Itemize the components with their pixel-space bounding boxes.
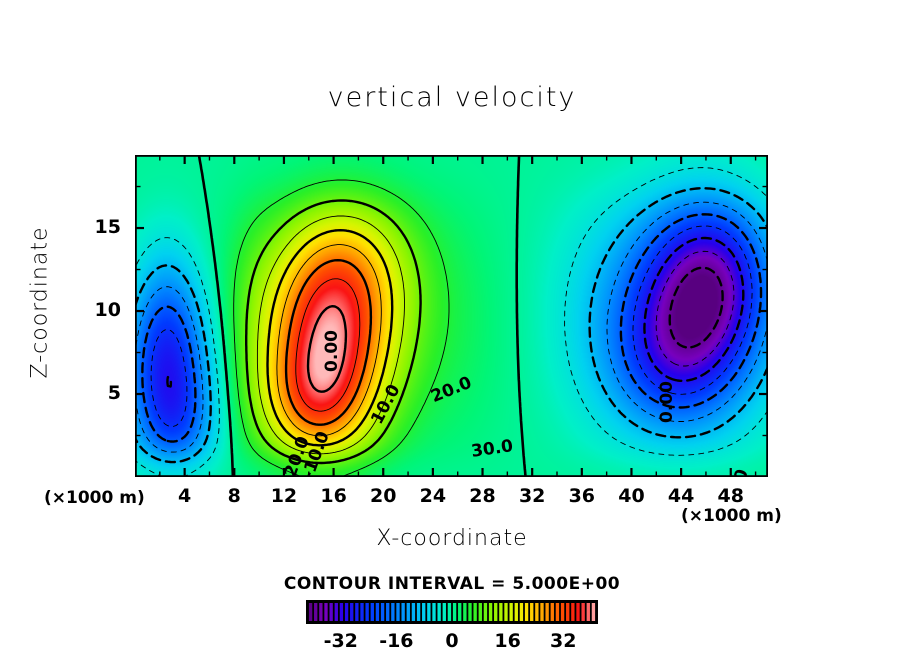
colorbar-band [551,603,554,621]
colorbar-band [581,603,584,621]
colorbar-band [412,603,415,621]
colorbar-band [314,603,317,621]
x-tick-label: 44 [657,485,705,507]
colorbar-band [484,603,487,621]
colorbar-tick-label: -32 [311,630,371,652]
colorbar-band [401,603,404,621]
y-tick-label: 15 [77,216,121,238]
contour-interval-note: CONTOUR INTERVAL = 5.000E+00 [0,574,904,594]
colorbar-band [319,603,322,621]
x-axis-title: X-coordinate [0,526,904,551]
colorbar-band [350,603,353,621]
colorbar-band [448,603,451,621]
y-tick-label: 5 [77,382,121,404]
colorbar-band [458,603,461,621]
x-tick-label: 24 [409,485,457,507]
colorbar-band [365,603,368,621]
colorbar-band [520,603,523,621]
x-tick-label: 28 [459,485,507,507]
colorbar-band [453,603,456,621]
colorbar-band [515,603,518,621]
x-tick-label: 48 [707,485,755,507]
colorbar-band [540,603,543,621]
colorbar-band [479,603,482,621]
colorbar-band [360,603,363,621]
colorbar-tick-label: 0 [422,630,482,652]
colorbar-band [371,603,374,621]
y-axis-title: Z-coordinate [28,203,53,403]
contour-plot-panel: 0.000.0010.020.030.010.0-10.0-20.0-10.0-… [135,155,768,477]
colorbar-band [571,603,574,621]
colorbar-band [525,603,528,621]
x-tick-label: 40 [607,485,655,507]
contour-label-group: 0.00 [657,380,678,425]
contour-label: 0.00 [322,330,342,372]
colorbar-band [381,603,384,621]
colorbar-band [530,603,533,621]
colorbar-band [340,603,343,621]
contour-label-group: 0.00 [322,329,343,374]
colorbar-band [417,603,420,621]
colorbar-band [504,603,507,621]
colorbar-band [566,603,569,621]
colorbar-band [355,603,358,621]
colorbar-band [576,603,579,621]
x-tick-label: 8 [210,485,258,507]
y-unit-note: (×1000 m) [44,488,145,508]
colorbar-band [494,603,497,621]
x-unit-note: (×1000 m) [681,506,782,526]
colorbar-band [535,603,538,621]
colorbar-band [324,603,327,621]
colorbar-band [561,603,564,621]
colorbar-band [473,603,476,621]
colorbar-band [437,603,440,621]
colorbar-band [345,603,348,621]
colorbar-band [391,603,394,621]
colorbar-band [499,603,502,621]
colorbar-band [556,603,559,621]
colorbar-band [489,603,492,621]
colorbar-band [407,603,410,621]
colorbar-tick-label: 32 [533,630,593,652]
colorbar-tick-label: 16 [478,630,538,652]
colorbar-band [468,603,471,621]
colorbar-band [587,603,590,621]
colorbar-band [396,603,399,621]
y-tick-label: 10 [77,299,121,321]
page-title: vertical velocity [0,82,904,113]
x-tick-label: 32 [508,485,556,507]
x-tick-label: 16 [310,485,358,507]
colorbar-band [443,603,446,621]
contour-field: 0.000.0010.020.030.010.0-10.0-20.0-10.0-… [135,155,768,477]
x-tick-label: 36 [558,485,606,507]
colorbar [306,600,598,628]
colorbar-band [386,603,389,621]
colorbar-band [309,603,312,621]
colorbar-band [329,603,332,621]
x-tick-label: 12 [260,485,308,507]
colorbar-band [432,603,435,621]
x-tick-label: 20 [359,485,407,507]
colorbar-band [376,603,379,621]
colorbar-band [592,603,595,621]
colorbar-band [427,603,430,621]
colorbar-band [463,603,466,621]
colorbar-band [335,603,338,621]
colorbar-band [509,603,512,621]
colorbar-tick-label: -16 [366,630,426,652]
x-tick-label: 4 [161,485,209,507]
colorbar-strip [306,600,598,624]
colorbar-band [545,603,548,621]
contour-label: 0.00 [657,381,677,423]
colorbar-band [422,603,425,621]
